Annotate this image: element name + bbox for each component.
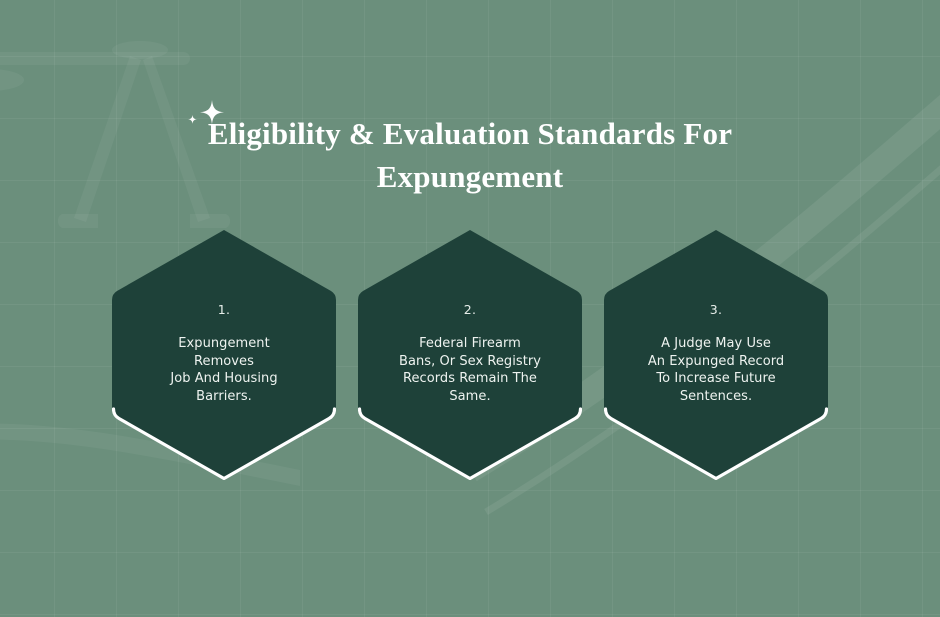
slide-canvas: Eligibility & Evaluation Standards For E… — [0, 0, 940, 617]
page-title: Eligibility & Evaluation Standards For E… — [0, 112, 940, 198]
hexagon-card-row: 1. Expungement Removes Job And Housing B… — [112, 228, 828, 480]
hexagon-card-3[interactable]: 3. A Judge May Use An Expunged Record To… — [604, 228, 828, 480]
page-title-text: Eligibility & Evaluation Standards For E… — [190, 112, 750, 198]
hexagon-card-1[interactable]: 1. Expungement Removes Job And Housing B… — [112, 228, 336, 480]
hexagon-card-2[interactable]: 2. Federal Firearm Bans, Or Sex Registry… — [358, 228, 582, 480]
